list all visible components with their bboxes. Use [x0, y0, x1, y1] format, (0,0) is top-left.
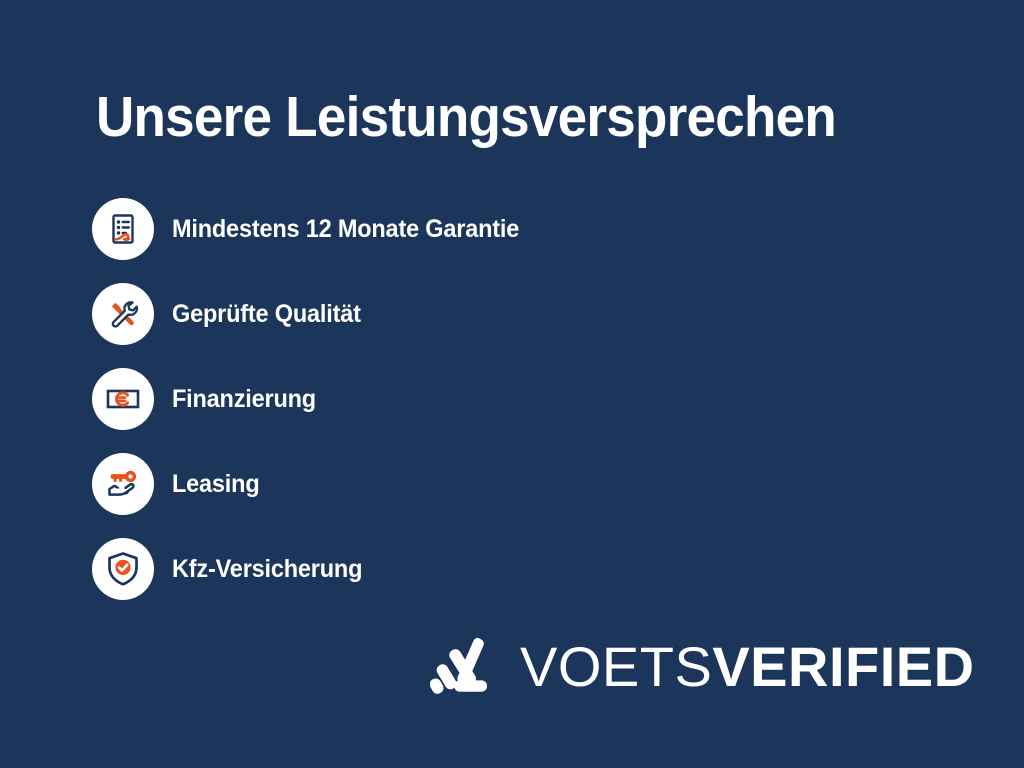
hand-holding-key-icon [92, 453, 154, 515]
wrench-screwdriver-icon [92, 283, 154, 345]
feature-label: Mindestens 12 Monate Garantie [172, 215, 519, 243]
feature-label: Finanzierung [172, 385, 316, 413]
brand-logo: VOETSVERIFIED [430, 634, 975, 700]
feature-label: Kfz-Versicherung [172, 555, 362, 583]
feature-column-left: Mindestens 12 Monate Garantie Geprüfte Q… [0, 198, 520, 623]
page-title: Unsere Leistungsversprechen [96, 86, 896, 148]
feature-item: Finanzierung [92, 368, 520, 430]
promise-poster: Unsere Leistungsversprechen [0, 0, 1024, 768]
feature-item: Kfz-Versicherung [92, 538, 520, 600]
voets-check-mark-icon [430, 634, 498, 700]
feature-column-right: Wartungspakete [520, 198, 1024, 623]
feature-item: Mindestens 12 Monate Garantie [92, 198, 520, 260]
brand-name-light: VOETS [520, 635, 712, 698]
feature-label: Leasing [172, 470, 259, 498]
certificate-document-icon [92, 198, 154, 260]
feature-item: Geprüfte Qualität [92, 283, 520, 345]
shield-check-icon [92, 538, 154, 600]
euro-banknote-icon [92, 368, 154, 430]
brand-name-bold: VERIFIED [712, 635, 974, 698]
feature-item: Leasing [92, 453, 520, 515]
feature-columns: Mindestens 12 Monate Garantie Geprüfte Q… [0, 198, 1024, 623]
feature-label: Geprüfte Qualität [172, 300, 361, 328]
brand-wordmark: VOETSVERIFIED [520, 638, 975, 696]
